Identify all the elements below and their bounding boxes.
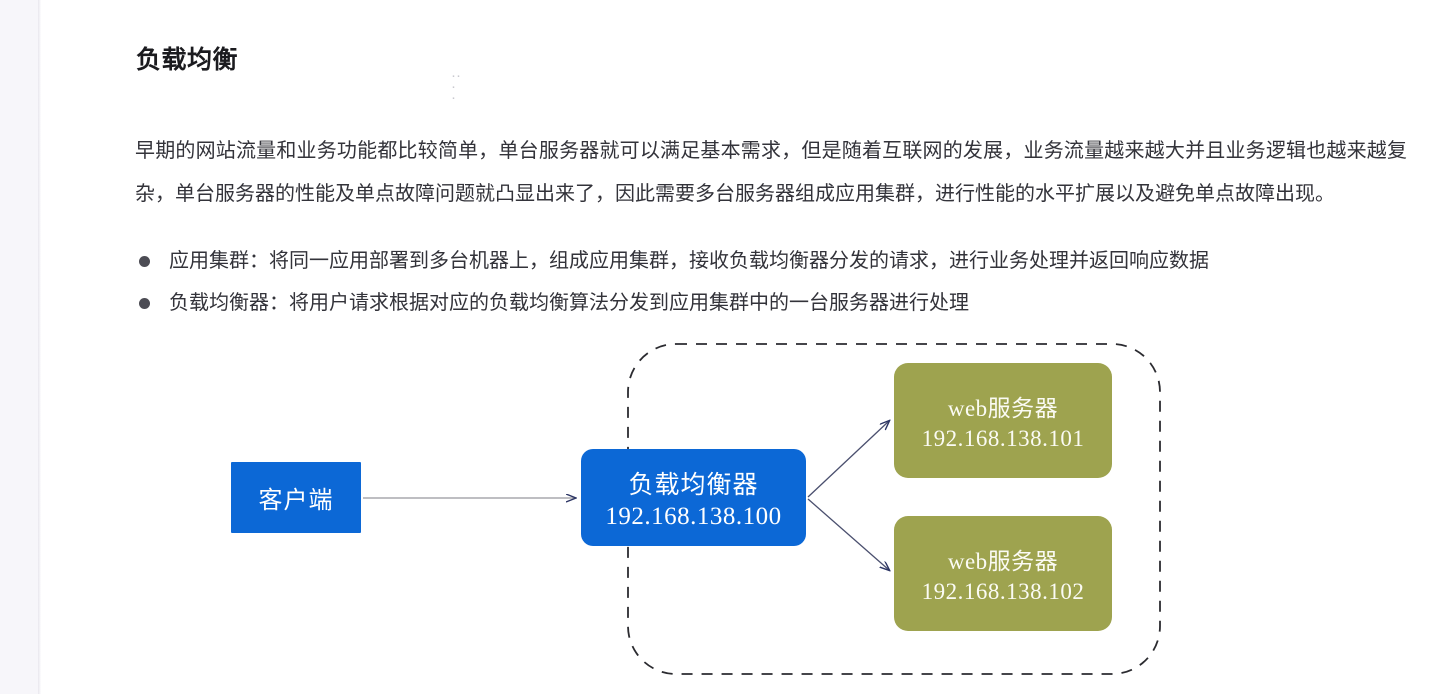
list-item-text: 负载均衡器：将用户请求根据对应的负载均衡算法分发到应用集群中的一台服务器进行处理: [169, 292, 969, 314]
page-root: 负载均衡 ·· · · 早期的网站流量和业务功能都比较简单，单台服务器就可以满足…: [0, 0, 1446, 694]
application-cluster-boundary: [628, 344, 1160, 674]
node-client-label: 客户端: [259, 480, 334, 515]
node-web-server-2-name: web服务器: [948, 542, 1058, 576]
node-web-server-2: web服务器 192.168.138.102: [894, 516, 1112, 631]
node-load-balancer: 负载均衡器 192.168.138.100: [581, 449, 806, 546]
list-item-text: 应用集群：将同一应用部署到多台机器上，组成应用集群，接收负载均衡器分发的请求，进…: [169, 250, 1209, 272]
bullet-dot-icon: [139, 298, 150, 309]
arrow-load-balancer-to-web-2: [808, 499, 889, 570]
node-web-server-2-ip: 192.168.138.102: [922, 579, 1085, 605]
diagram-connectors-layer: [41, 0, 1446, 694]
node-web-server-1-ip: 192.168.138.101: [922, 426, 1085, 452]
intro-paragraph: 早期的网站流量和业务功能都比较简单，单台服务器就可以满足基本需求，但是随着互联网…: [135, 130, 1407, 216]
page-title: 负载均衡: [136, 40, 238, 76]
left-rail: [0, 0, 38, 694]
arrow-load-balancer-to-web-1: [808, 421, 889, 497]
list-item: 负载均衡器：将用户请求根据对应的负载均衡算法分发到应用集群中的一台服务器进行处理: [135, 282, 1413, 324]
node-client: 客户端: [231, 462, 361, 533]
bullet-dot-icon: [139, 256, 150, 267]
document-content: 负载均衡 ·· · · 早期的网站流量和业务功能都比较简单，单台服务器就可以满足…: [41, 0, 1446, 694]
list-item: 应用集群：将同一应用部署到多台机器上，组成应用集群，接收负载均衡器分发的请求，进…: [135, 240, 1413, 282]
text-caret-artifact: ·· · ·: [451, 70, 454, 92]
node-load-balancer-name: 负载均衡器: [628, 465, 758, 501]
node-web-server-1: web服务器 192.168.138.101: [894, 363, 1112, 478]
node-load-balancer-ip: 192.168.138.100: [605, 503, 781, 531]
node-web-server-1-name: web服务器: [948, 389, 1058, 423]
bullet-list: 应用集群：将同一应用部署到多台机器上，组成应用集群，接收负载均衡器分发的请求，进…: [135, 240, 1413, 324]
load-balancer-diagram: 客户端 负载均衡器 192.168.138.100 web服务器 192.168…: [41, 0, 1446, 694]
